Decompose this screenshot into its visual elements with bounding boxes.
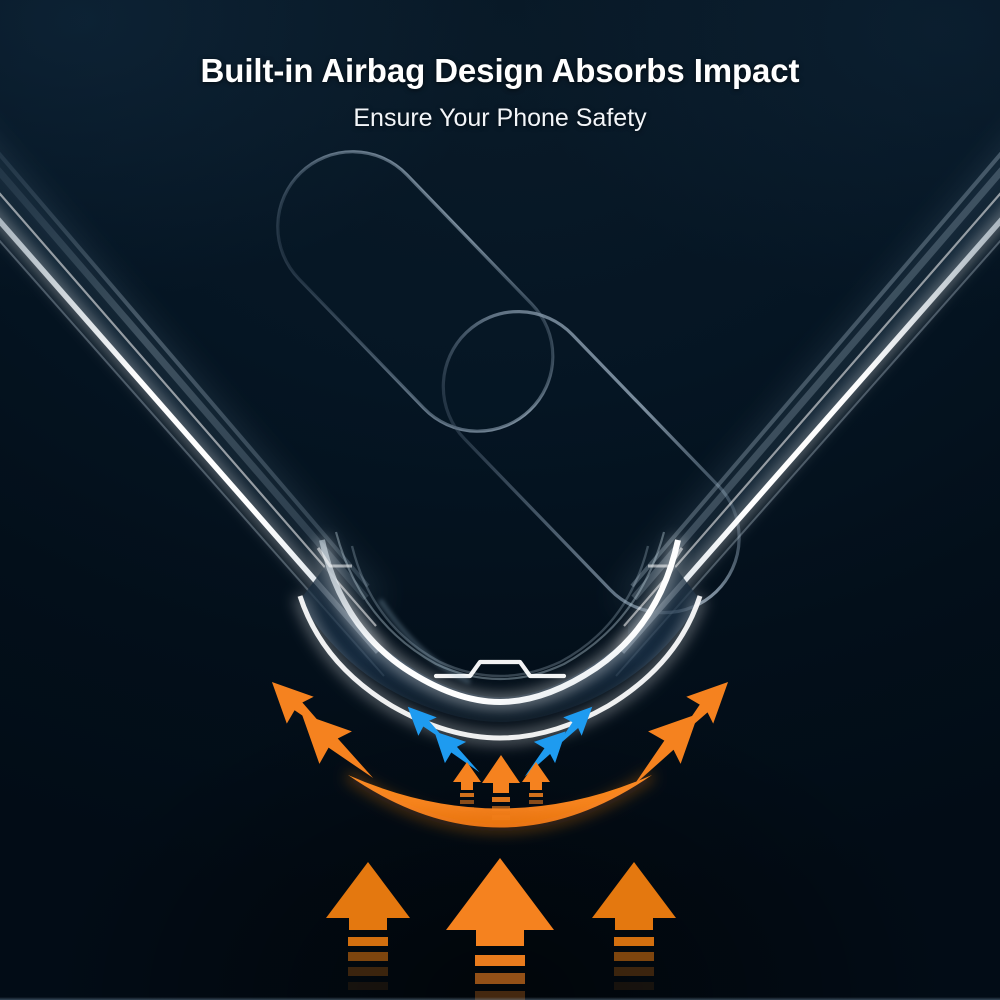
case-bottom-corner [300, 532, 700, 738]
camera-lens-outline-lower [412, 281, 770, 644]
scene-illustration [0, 0, 1000, 1000]
camera-lens-fill-upper [247, 121, 584, 463]
product-feature-banner: Built-in Airbag Design Absorbs Impact En… [0, 0, 1000, 1000]
residual-force-arrows [453, 755, 550, 820]
incoming-impact-arrows [326, 858, 676, 1000]
